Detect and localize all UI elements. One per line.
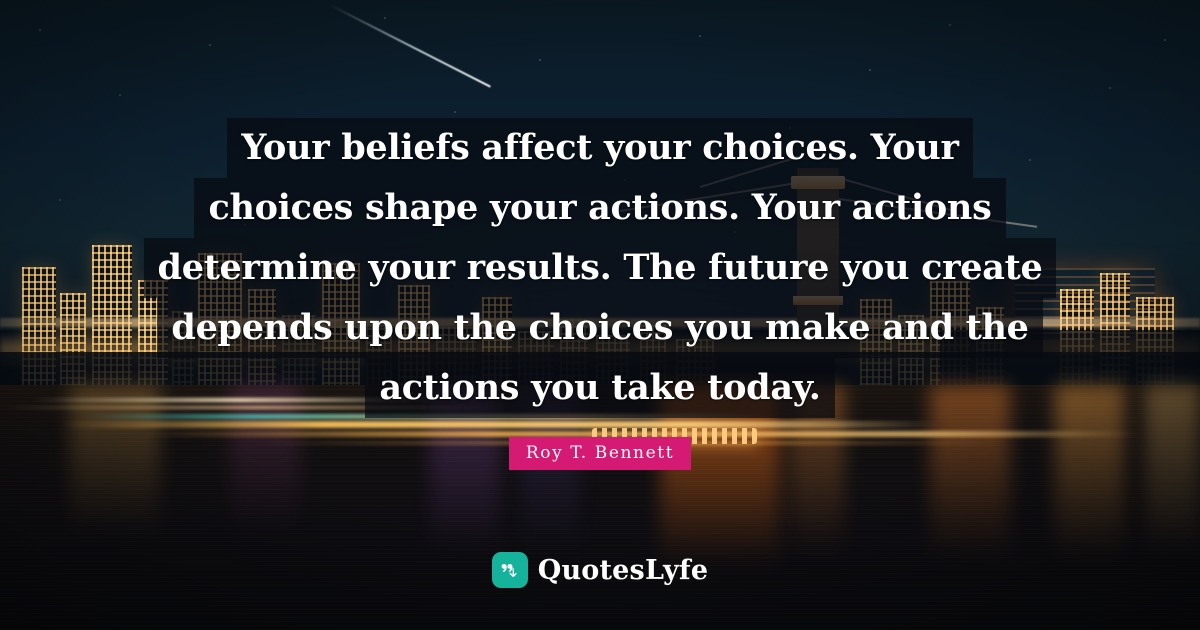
quote-line: Your beliefs affect your choices. Your bbox=[227, 118, 972, 178]
brand-wordmark: QuotesLyfe bbox=[538, 555, 709, 586]
quote-line: determine your results. The future you c… bbox=[144, 238, 1057, 298]
quote-content: Your beliefs affect your choices. Your c… bbox=[0, 0, 1200, 630]
quote-text-block: Your beliefs affect your choices. Your c… bbox=[144, 118, 1057, 418]
site-branding: QuotesLyfe bbox=[0, 552, 1200, 588]
author-attribution: Roy T. Bennett bbox=[509, 437, 691, 470]
quote-image-canvas: Your beliefs affect your choices. Your c… bbox=[0, 0, 1200, 630]
quote-line: actions you take today. bbox=[365, 358, 834, 418]
quote-line: choices shape your actions. Your actions bbox=[194, 178, 1005, 238]
quotation-mark-icon bbox=[492, 552, 528, 588]
author-name: Roy T. Bennett bbox=[509, 437, 691, 470]
quote-line: depends upon the choices you make and th… bbox=[157, 298, 1042, 358]
